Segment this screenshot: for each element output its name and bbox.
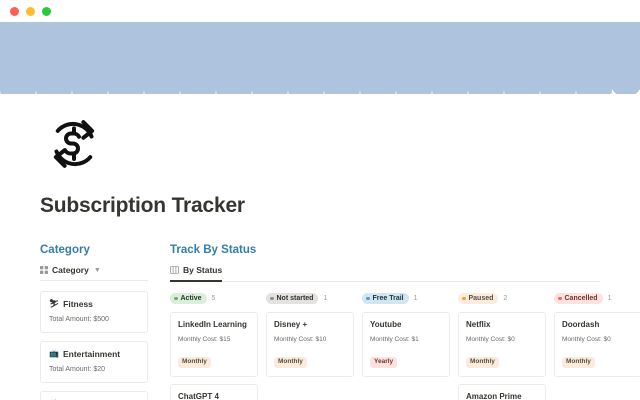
subscription-title: LinkedIn Learning (178, 320, 250, 329)
status-count: 1 (414, 295, 418, 302)
category-view-selector[interactable]: Category ▼ (40, 265, 148, 281)
status-section: Track By Status By Status Active5LinkedI… (170, 244, 600, 400)
status-dot-icon (174, 297, 178, 301)
status-column-header[interactable]: Not started1 (266, 292, 354, 305)
category-card-header: 📺Entertainment (49, 349, 139, 359)
status-label: Free Trail (373, 295, 404, 302)
minimize-button[interactable] (26, 7, 35, 16)
billing-cycle-tag: Monthly (274, 357, 307, 368)
fitness-icon: ⛷ (49, 300, 59, 308)
chevron-down-icon: ▼ (94, 267, 101, 274)
subscription-card[interactable]: LinkedIn LearningMonthly Cost: $15Monthl… (170, 312, 258, 377)
status-dot-icon (366, 297, 370, 301)
page-body: Subscription Tracker Category Category ▼… (0, 114, 640, 400)
status-dot-icon (462, 297, 466, 301)
category-card-title: Entertainment (63, 349, 120, 359)
category-card-header: ⛷Fitness (49, 299, 139, 309)
category-card-amount: Total Amount: $500 (49, 316, 139, 323)
status-column-header[interactable]: Active5 (170, 292, 258, 305)
subscription-cost: Monthly Cost: $0 (562, 336, 634, 343)
subscription-card[interactable]: Disney +Monthly Cost: $10Monthly (266, 312, 354, 377)
window-titlebar (0, 0, 640, 22)
gallery-view-icon (40, 266, 48, 274)
subscription-cost: Monthly Cost: $0 (466, 336, 538, 343)
billing-cycle-tag: Yearly (370, 357, 397, 368)
status-count: 1 (608, 295, 612, 302)
status-column: Paused2NetflixMonthly Cost: $0MonthlyAma… (458, 292, 546, 400)
status-badge: Free Trail (362, 293, 409, 304)
subscription-cost: Monthly Cost: $10 (274, 336, 346, 343)
status-dot-icon (558, 297, 562, 301)
status-count: 5 (212, 295, 216, 302)
subscription-title: Netflix (466, 320, 538, 329)
status-badge: Not started (266, 293, 318, 304)
category-heading: Category (40, 244, 148, 256)
category-card-title: Fitness (63, 299, 93, 309)
board-view-icon (170, 266, 179, 274)
subscription-card[interactable]: Amazon PrimeMonthly Cost: $0Monthly (458, 384, 546, 400)
subscription-title: Youtube (370, 320, 442, 329)
television-icon: 📺 (49, 350, 59, 358)
subscription-title: Disney + (274, 320, 346, 329)
close-button[interactable] (10, 7, 19, 16)
status-label: Not started (277, 295, 314, 302)
status-label: Cancelled (565, 295, 598, 302)
category-card[interactable]: ⛷FitnessTotal Amount: $500 (40, 291, 148, 333)
subscription-title: Doordash (562, 320, 634, 329)
tab-by-status[interactable]: By Status (170, 265, 222, 282)
billing-cycle-tag: Monthly (562, 357, 595, 368)
status-label: Paused (469, 295, 494, 302)
status-column: Cancelled1DoordashMonthly Cost: $0Monthl… (554, 292, 640, 400)
status-label: Active (181, 295, 202, 302)
billing-cycle-tag: Monthly (178, 357, 211, 368)
subscription-title: Amazon Prime (466, 392, 538, 400)
status-badge: Cancelled (554, 293, 603, 304)
status-heading: Track By Status (170, 244, 600, 256)
status-column: Not started1Disney +Monthly Cost: $10Mon… (266, 292, 354, 400)
status-column-header[interactable]: Free Trail1 (362, 292, 450, 305)
content-columns: Category Category ▼ ⛷FitnessTotal Amount… (40, 244, 600, 400)
status-view-tabs: By Status (170, 265, 600, 282)
status-badge: Paused (458, 293, 498, 304)
category-card-list: ⛷FitnessTotal Amount: $500📺Entertainment… (40, 291, 148, 400)
cloud-scallop-shape (0, 69, 640, 94)
subscription-title: ChatGPT 4 (178, 392, 250, 400)
category-card[interactable]: 🍴FoodTotal Amount: $10 (40, 391, 148, 400)
billing-cycle-tag: Monthly (466, 357, 499, 368)
subscription-cost: Monthly Cost: $1 (370, 336, 442, 343)
status-badge: Active (170, 293, 207, 304)
status-dot-icon (270, 297, 274, 301)
status-view-label: By Status (183, 265, 222, 275)
subscription-card[interactable]: DoordashMonthly Cost: $0Monthly (554, 312, 640, 377)
page-cover-banner (0, 22, 640, 94)
status-column: Active5LinkedIn LearningMonthly Cost: $1… (170, 292, 258, 400)
category-card-amount: Total Amount: $20 (49, 366, 139, 373)
status-board: Active5LinkedIn LearningMonthly Cost: $1… (170, 292, 600, 400)
page-title: Subscription Tracker (40, 194, 600, 218)
zoom-button[interactable] (42, 7, 51, 16)
dollar-refresh-icon (44, 114, 104, 174)
subscription-cost: Monthly Cost: $15 (178, 336, 250, 343)
subscription-card[interactable]: YoutubeMonthly Cost: $1Yearly (362, 312, 450, 377)
category-view-label: Category (52, 265, 89, 275)
status-count: 2 (503, 295, 507, 302)
category-section: Category Category ▼ ⛷FitnessTotal Amount… (40, 244, 148, 400)
subscription-card[interactable]: ChatGPT 4Monthly Cost: $20Monthly (170, 384, 258, 400)
category-card[interactable]: 📺EntertainmentTotal Amount: $20 (40, 341, 148, 383)
status-count: 1 (323, 295, 327, 302)
subscription-card[interactable]: NetflixMonthly Cost: $0Monthly (458, 312, 546, 377)
status-column: Free Trail1YoutubeMonthly Cost: $1Yearly (362, 292, 450, 400)
status-column-header[interactable]: Paused2 (458, 292, 546, 305)
status-column-header[interactable]: Cancelled1 (554, 292, 640, 305)
